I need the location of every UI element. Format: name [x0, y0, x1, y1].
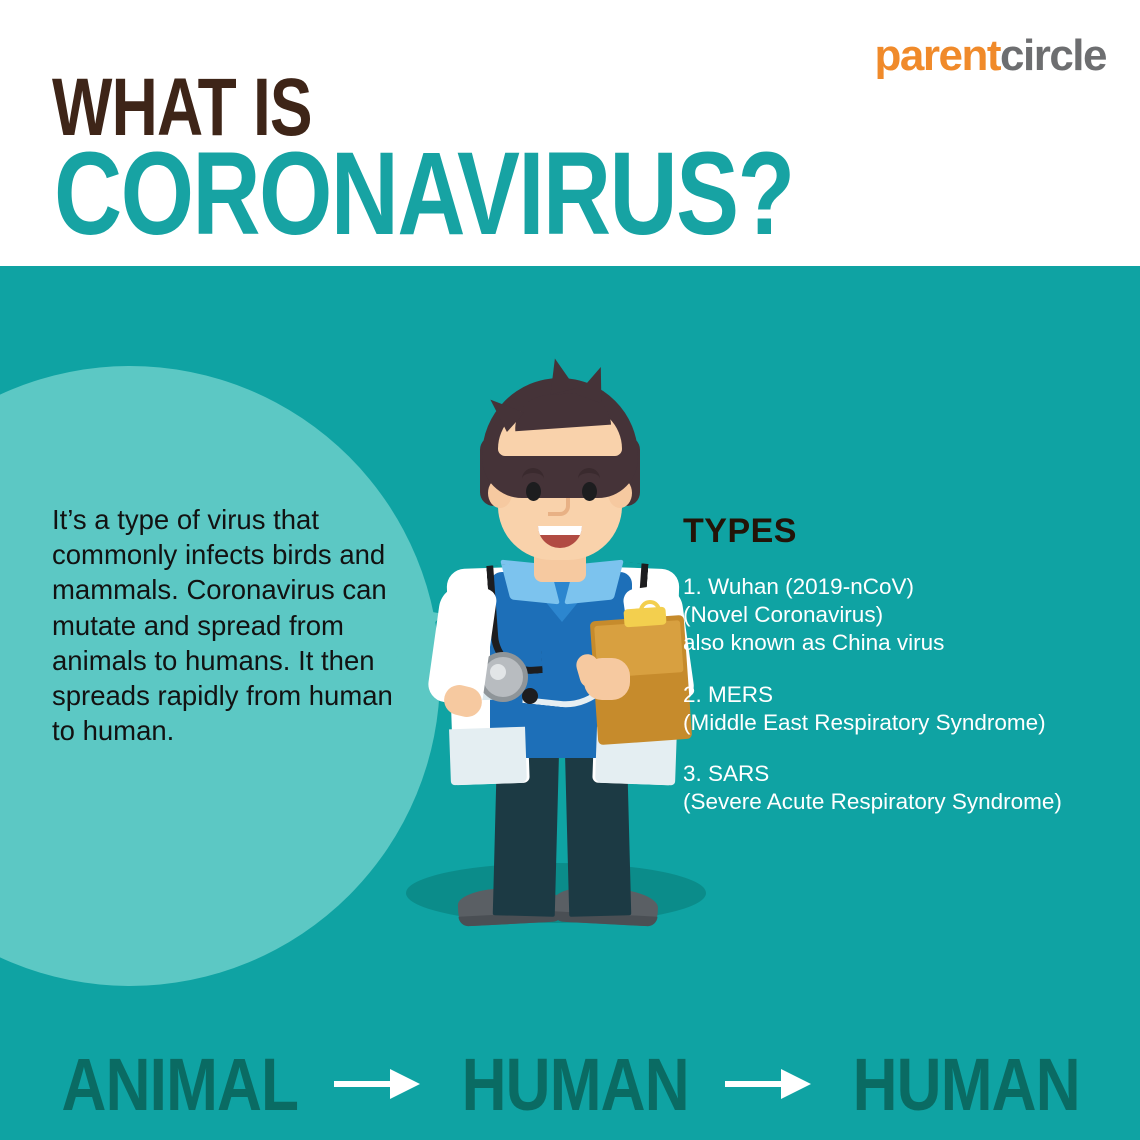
- arrow-head: [390, 1069, 420, 1099]
- types-section: TYPES 1. Wuhan (2019-nCoV) (Novel Corona…: [683, 512, 1103, 840]
- type-name: 3. SARS: [683, 760, 1103, 788]
- main-body: It’s a type of virus that commonly infec…: [0, 266, 1140, 1140]
- type-detail: (Middle East Respiratory Syndrome): [683, 709, 1103, 737]
- doctor-illustration: [398, 336, 718, 936]
- type-detail: (Novel Coronavirus): [683, 601, 1103, 629]
- stethoscope-earpiece: [522, 688, 538, 704]
- chain-step-animal: ANIMAL: [61, 1042, 298, 1127]
- page-title-line2: CORONAVIRUS?: [54, 140, 794, 249]
- parentcircle-logo[interactable]: parentcircle: [875, 34, 1106, 78]
- type-extra: also known as China virus: [683, 629, 1103, 657]
- hand-right: [584, 658, 630, 700]
- arrow-head: [781, 1069, 811, 1099]
- eye-left: [526, 482, 541, 501]
- arrow-right-icon: [725, 1069, 817, 1099]
- type-list-item: 3. SARS (Severe Acute Respiratory Syndro…: [683, 760, 1103, 816]
- teeth: [538, 526, 582, 535]
- nose: [548, 498, 570, 516]
- logo-text-parent: parent: [875, 31, 1000, 80]
- type-detail: (Severe Acute Respiratory Syndrome): [683, 788, 1103, 816]
- chain-step-human-1: HUMAN: [462, 1042, 689, 1127]
- clipboard-clip-ring: [639, 600, 661, 622]
- lab-coat-left-shade: [449, 727, 527, 786]
- arrow-right-icon: [334, 1069, 426, 1099]
- stethoscope-chestpiece-center: [490, 664, 506, 680]
- type-list-item: 1. Wuhan (2019-nCoV) (Novel Coronavirus)…: [683, 573, 1103, 657]
- infographic-poster: parentcircle WHAT IS CORONAVIRUS? It’s a…: [0, 0, 1140, 1140]
- logo-text-circle: circle: [1000, 31, 1106, 80]
- type-list-item: 2. MERS (Middle East Respiratory Syndrom…: [683, 681, 1103, 737]
- speech-bubble-text: It’s a type of virus that commonly infec…: [52, 502, 404, 748]
- arrow-shaft: [334, 1081, 396, 1087]
- type-name: 1. Wuhan (2019-nCoV): [683, 573, 1103, 601]
- transmission-chain: ANIMAL HUMAN HUMAN: [0, 1028, 1140, 1140]
- eye-right: [582, 482, 597, 501]
- types-heading: TYPES: [683, 512, 1103, 551]
- arrow-shaft: [725, 1081, 787, 1087]
- type-name: 2. MERS: [683, 681, 1103, 709]
- header-section: parentcircle WHAT IS CORONAVIRUS?: [0, 0, 1140, 266]
- chain-step-human-2: HUMAN: [852, 1042, 1079, 1127]
